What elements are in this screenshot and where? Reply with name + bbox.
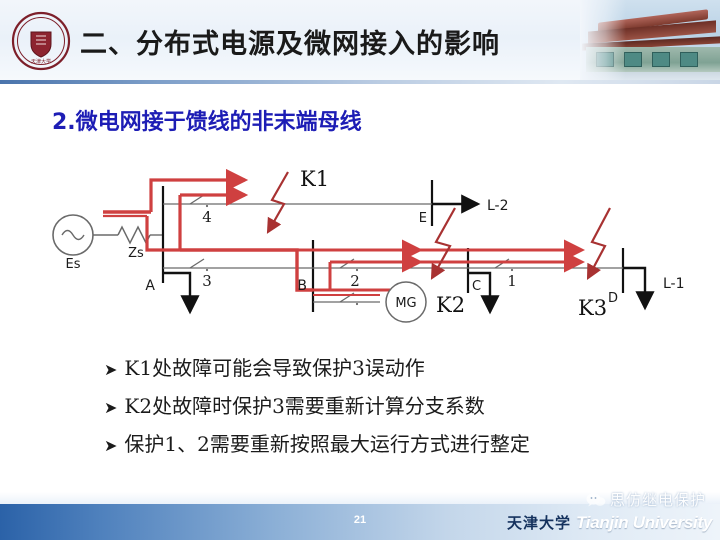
building-window xyxy=(680,52,698,67)
watermark-text: 思仿继电保护 xyxy=(610,489,706,510)
fault-label-k3: K3 xyxy=(578,296,607,320)
fault-label-k1: K1 xyxy=(300,167,329,191)
bus-label-d: D xyxy=(608,291,618,306)
impedance-label: Zs xyxy=(128,246,144,261)
generator-label: MG xyxy=(395,296,416,311)
bus-label-c: C xyxy=(472,279,481,294)
section-subtitle: 2.微电网接于馈线的非末端母线 xyxy=(52,104,362,136)
load-tap-bus-d-l1 xyxy=(623,268,645,308)
wechat-bubble-icon xyxy=(586,492,606,508)
building-window xyxy=(652,52,670,67)
header-divider xyxy=(0,80,720,84)
bullet-list: ➤ K1处故障可能会导致保护3误动作 ➤ K2处故障时保护3需要重新计算分支系数… xyxy=(104,352,664,466)
current-path-a-to-b xyxy=(180,250,313,290)
photo-fade-overlay xyxy=(580,0,626,84)
page-title: 二、分布式电源及微网接入的影响 xyxy=(80,22,500,61)
slide-header: 天津大学 二、分布式电源及微网接入的影响 xyxy=(0,0,720,84)
watermark: 思仿继电保护 xyxy=(586,489,706,510)
campus-building-photo xyxy=(580,0,720,84)
breaker-label-4: 4 xyxy=(202,208,212,226)
bus-label-b: B xyxy=(297,278,307,294)
bullet-text: 保护1、2需要重新按照最大运行方式进行整定 xyxy=(124,428,529,457)
bus-label-e: E xyxy=(419,211,427,226)
bullet-arrow-icon: ➤ xyxy=(104,436,117,455)
tianjin-university-seal-icon: 天津大学 xyxy=(10,10,72,72)
impedance-symbol xyxy=(118,227,150,243)
bullet-item: ➤ 保护1、2需要重新按照最大运行方式进行整定 xyxy=(104,428,664,457)
breaker-label-1: 1 xyxy=(507,272,517,290)
bullet-arrow-icon: ➤ xyxy=(104,360,117,379)
source-label: Es xyxy=(66,257,81,272)
fault-symbol-k1 xyxy=(268,172,288,232)
bullet-text: K1处故障可能会导致保护3误动作 xyxy=(124,352,424,381)
building-window xyxy=(624,52,642,67)
bullet-arrow-icon: ➤ xyxy=(104,398,117,417)
fault-label-k2: K2 xyxy=(436,293,465,317)
svg-text:天津大学: 天津大学 xyxy=(31,58,51,65)
load-label-l2: L-2 xyxy=(487,198,509,214)
load-label-l1: L-1 xyxy=(663,276,685,292)
breaker-label-2: 2 xyxy=(350,272,360,290)
slide: 天津大学 二、分布式电源及微网接入的影响 2.微电网接于馈线的非末端母线 Es xyxy=(0,0,720,540)
breaker-3-switch xyxy=(190,259,204,268)
bullet-text: K2处故障时保护3需要重新计算分支系数 xyxy=(124,390,484,419)
bullet-item: ➤ K2处故障时保护3需要重新计算分支系数 xyxy=(104,390,664,419)
bullet-item: ➤ K1处故障可能会导致保护3误动作 xyxy=(104,352,664,381)
university-name-cn: 天津大学 xyxy=(507,512,571,533)
bus-label-a: A xyxy=(145,278,155,294)
power-system-diagram: Es Zs xyxy=(0,150,720,350)
breaker-label-3: 3 xyxy=(202,272,212,290)
voltage-source-symbol xyxy=(53,215,93,255)
university-branding: 天津大学 Tianjin University xyxy=(507,512,712,533)
load-tap-bus-a xyxy=(163,273,190,312)
university-name-en: Tianjin University xyxy=(576,513,712,533)
